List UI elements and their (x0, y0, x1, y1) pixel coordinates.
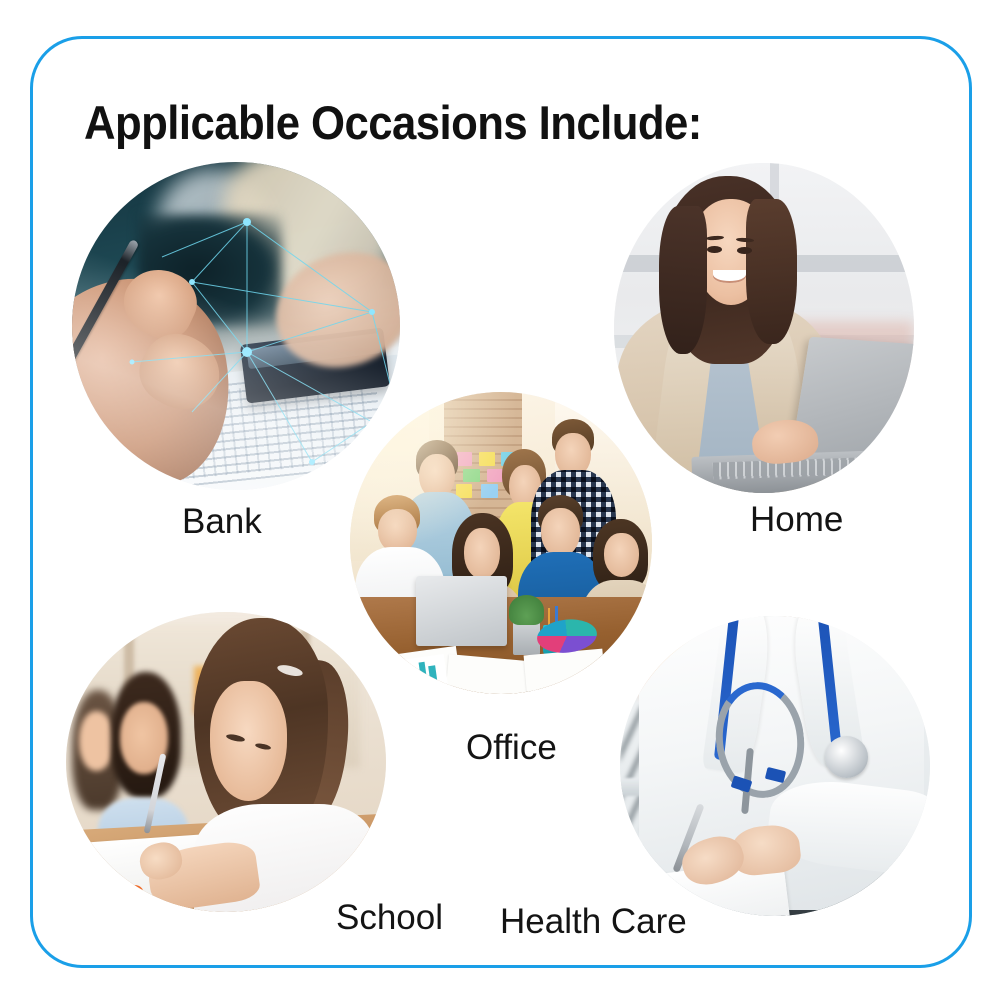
occasion-tile-home[interactable]: Home (614, 163, 914, 493)
occasion-tile-school[interactable]: School (66, 612, 386, 912)
home-photo (614, 163, 914, 493)
office-paper-3 (524, 648, 605, 691)
occasion-label-bank: Bank (182, 502, 262, 542)
home-hair-left (659, 206, 707, 355)
occasion-tile-office[interactable]: Office (350, 392, 652, 694)
occasion-label-school: School (336, 898, 443, 938)
office-sun-glare (350, 392, 531, 573)
office-photo (350, 392, 652, 694)
occasion-label-home: Home (750, 500, 843, 540)
school-photo (66, 612, 386, 912)
occasion-label-office: Office (466, 728, 557, 768)
occasion-tile-health-care[interactable]: Health Care (620, 616, 930, 916)
health-care-photo (620, 616, 930, 916)
page-title: Applicable Occasions Include: (84, 95, 702, 150)
school-girl-face (210, 681, 287, 801)
product-feature-card: Applicable Occasions Include: (0, 0, 1000, 1000)
occasion-label-health-care: Health Care (500, 902, 687, 942)
school-child-far-face (79, 711, 114, 771)
home-hair-right (746, 199, 797, 344)
office-laptop-icon (416, 576, 507, 645)
school-foam-letter-orange-2 (130, 897, 159, 912)
home-eye-left (707, 246, 722, 253)
health-stethoscope-chestpiece (825, 736, 868, 778)
